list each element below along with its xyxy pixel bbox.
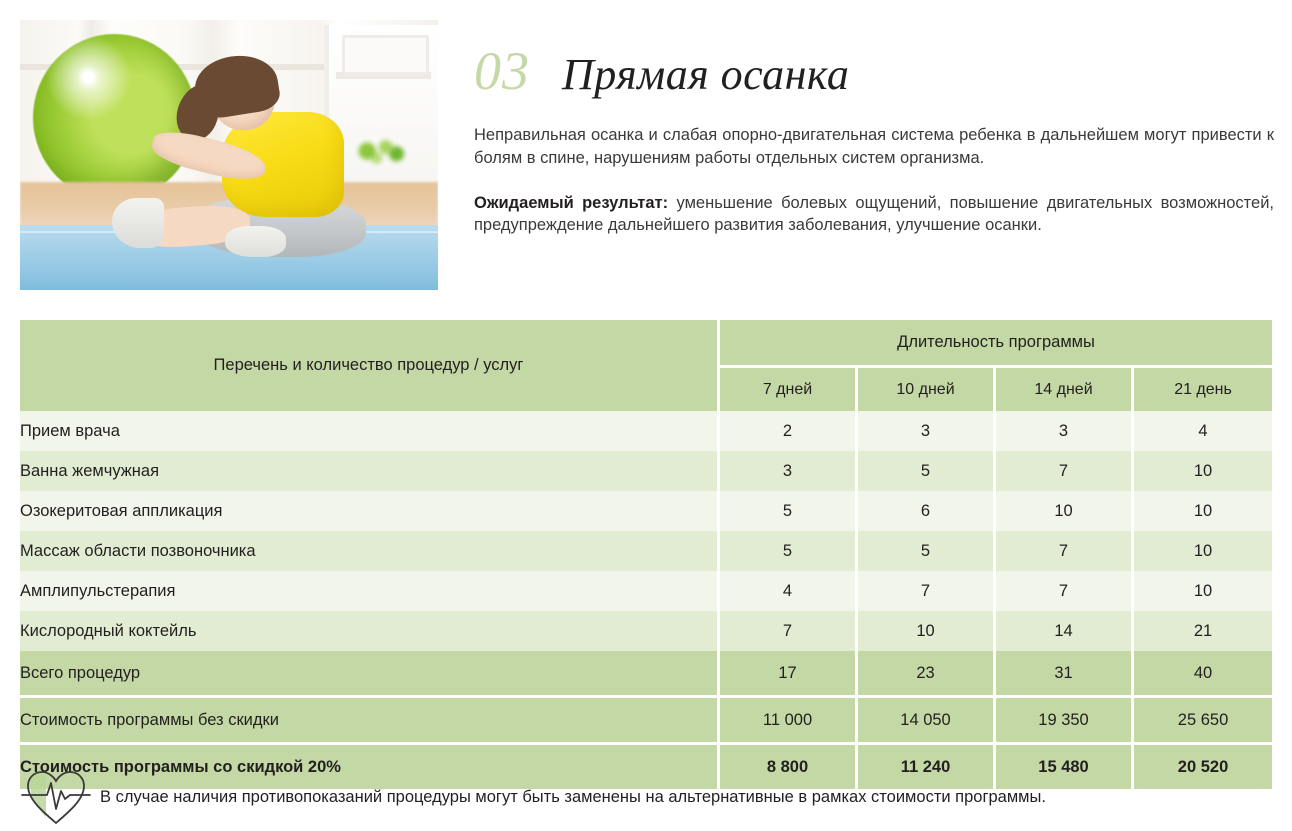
table-row: Озокеритовая аппликация 5 6 10 10 [20, 491, 1272, 531]
row-value: 3 [858, 411, 996, 451]
table-row: Прием врача 2 3 3 4 [20, 411, 1272, 451]
result-paragraph: Ожидаемый результат: уменьшение болевых … [474, 192, 1274, 238]
row-value: 7 [996, 451, 1134, 491]
row-label: Всего процедур [20, 651, 720, 698]
row-value: 14 050 [858, 698, 996, 745]
row-value: 7 [720, 611, 858, 651]
row-value: 10 [1134, 451, 1272, 491]
row-value: 10 [1134, 571, 1272, 611]
row-value: 23 [858, 651, 996, 698]
photo-child [112, 58, 388, 285]
row-value: 40 [1134, 651, 1272, 698]
row-value: 17 [720, 651, 858, 698]
row-label: Прием врача [20, 411, 720, 451]
photo-scene [20, 20, 438, 290]
table-row: Кислородный коктейль 7 10 14 21 [20, 611, 1272, 651]
row-label: Стоимость программы без скидки [20, 698, 720, 745]
row-value: 4 [720, 571, 858, 611]
row-value: 21 [1134, 611, 1272, 651]
row-value: 10 [1134, 531, 1272, 571]
row-value: 14 [996, 611, 1134, 651]
row-value: 10 [858, 611, 996, 651]
row-value: 25 650 [1134, 698, 1272, 745]
header-col-7: 7 дней [720, 368, 858, 411]
procedures-table: Перечень и количество процедур / услуг Д… [20, 320, 1272, 789]
row-value: 10 [1134, 491, 1272, 531]
footer-note: В случае наличия противопоказаний процед… [20, 765, 1272, 831]
row-label: Озокеритовая аппликация [20, 491, 720, 531]
table-header-row-group: Перечень и количество процедур / услуг Д… [20, 320, 1272, 368]
row-label: Кислородный коктейль [20, 611, 720, 651]
summary-row-price-full: Стоимость программы без скидки 11 000 14… [20, 698, 1272, 745]
intro-paragraph: Неправильная осанка и слабая опорно-двиг… [474, 124, 1274, 170]
header-name-col: Перечень и количество процедур / услуг [20, 320, 720, 411]
row-value: 7 [996, 571, 1134, 611]
row-label: Ванна жемчужная [20, 451, 720, 491]
row-value: 5 [858, 451, 996, 491]
photo-child-sock-left [112, 198, 164, 248]
row-value: 10 [996, 491, 1134, 531]
row-value: 3 [720, 451, 858, 491]
row-label: Массаж области позвоночника [20, 531, 720, 571]
heart-pulse-icon [20, 765, 92, 831]
row-label: Амплипульстерапия [20, 571, 720, 611]
row-value: 3 [996, 411, 1134, 451]
title-row: 03 Прямая осанка [474, 44, 1274, 98]
header-col-14: 14 дней [996, 368, 1134, 411]
table-row: Ванна жемчужная 3 5 7 10 [20, 451, 1272, 491]
table-head: Перечень и количество процедур / услуг Д… [20, 320, 1272, 411]
section-number: 03 [474, 44, 530, 98]
photo-child-sock-right [225, 226, 286, 258]
table-row: Амплипульстерапия 4 7 7 10 [20, 571, 1272, 611]
footer-note-text: В случае наличия противопоказаний процед… [100, 787, 1046, 808]
header-group-label: Длительность программы [720, 320, 1272, 368]
row-value: 7 [996, 531, 1134, 571]
row-value: 5 [720, 491, 858, 531]
page-title: Прямая осанка [562, 53, 849, 97]
row-value: 2 [720, 411, 858, 451]
header-col-21: 21 день [1134, 368, 1272, 411]
row-value: 5 [720, 531, 858, 571]
row-value: 19 350 [996, 698, 1134, 745]
row-value: 7 [858, 571, 996, 611]
row-value: 6 [858, 491, 996, 531]
table-body: Прием врача 2 3 3 4 Ванна жемчужная 3 5 … [20, 411, 1272, 789]
row-value: 31 [996, 651, 1134, 698]
hero-photo [20, 20, 438, 290]
row-value: 4 [1134, 411, 1272, 451]
section-header: 03 Прямая осанка Неправильная осанка и с… [474, 44, 1274, 254]
table-row: Массаж области позвоночника 5 5 7 10 [20, 531, 1272, 571]
header-col-10: 10 дней [858, 368, 996, 411]
row-value: 5 [858, 531, 996, 571]
row-value: 11 000 [720, 698, 858, 745]
result-label: Ожидаемый результат: [474, 194, 668, 212]
summary-row-total: Всего процедур 17 23 31 40 [20, 651, 1272, 698]
